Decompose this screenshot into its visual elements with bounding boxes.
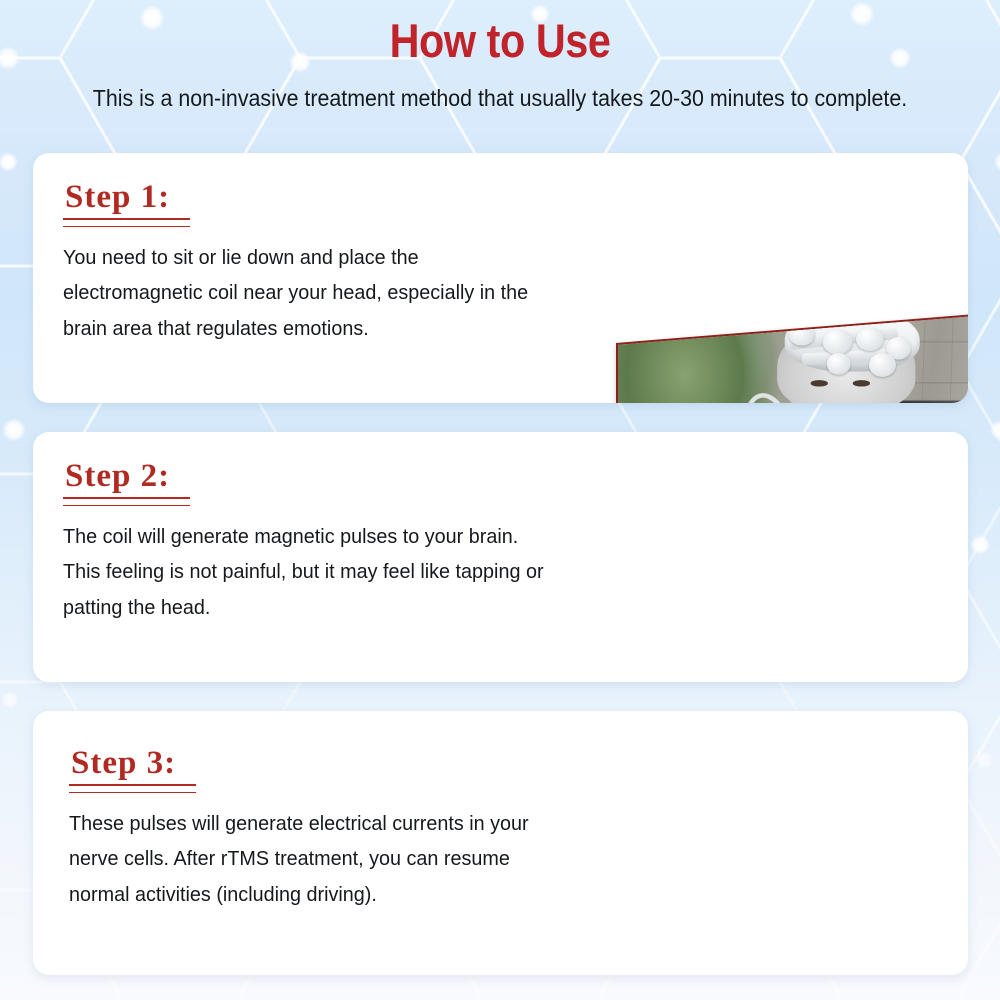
- header: How to Use This is a non-invasive treatm…: [0, 0, 1000, 112]
- step-2-body: The coil will generate magnetic pulses t…: [63, 519, 546, 625]
- step-1-text-block: Step 1: You need to sit or lie down and …: [63, 181, 563, 346]
- step-1-image-frame: [616, 313, 968, 403]
- step-card-3: Step 3: These pulses will generate elect…: [33, 711, 968, 975]
- step-card-2: Step 2: The coil will generate magnetic …: [33, 432, 968, 682]
- step-2-heading-underline: [63, 497, 190, 506]
- page-title: How to Use: [60, 16, 940, 65]
- step-2-heading: Step 2:: [65, 460, 563, 493]
- step-card-1: Step 1: You need to sit or lie down and …: [33, 153, 968, 403]
- how-to-use-infographic: How to Use This is a non-invasive treatm…: [0, 0, 1000, 1000]
- elderly-woman-wearing-tms-helmet-photo: [616, 313, 968, 403]
- step-3-heading-underline: [69, 784, 196, 793]
- step-1-heading: Step 1:: [65, 181, 563, 214]
- step-1-body: You need to sit or lie down and place th…: [63, 240, 546, 346]
- step-3-body: These pulses will generate electrical cu…: [69, 806, 552, 912]
- step-2-text-block: Step 2: The coil will generate magnetic …: [63, 460, 563, 625]
- step-3-heading: Step 3:: [71, 747, 569, 780]
- page-subtitle: This is a non-invasive treatment method …: [35, 85, 965, 112]
- step-1-heading-underline: [63, 218, 190, 227]
- step-3-text-block: Step 3: These pulses will generate elect…: [69, 747, 569, 912]
